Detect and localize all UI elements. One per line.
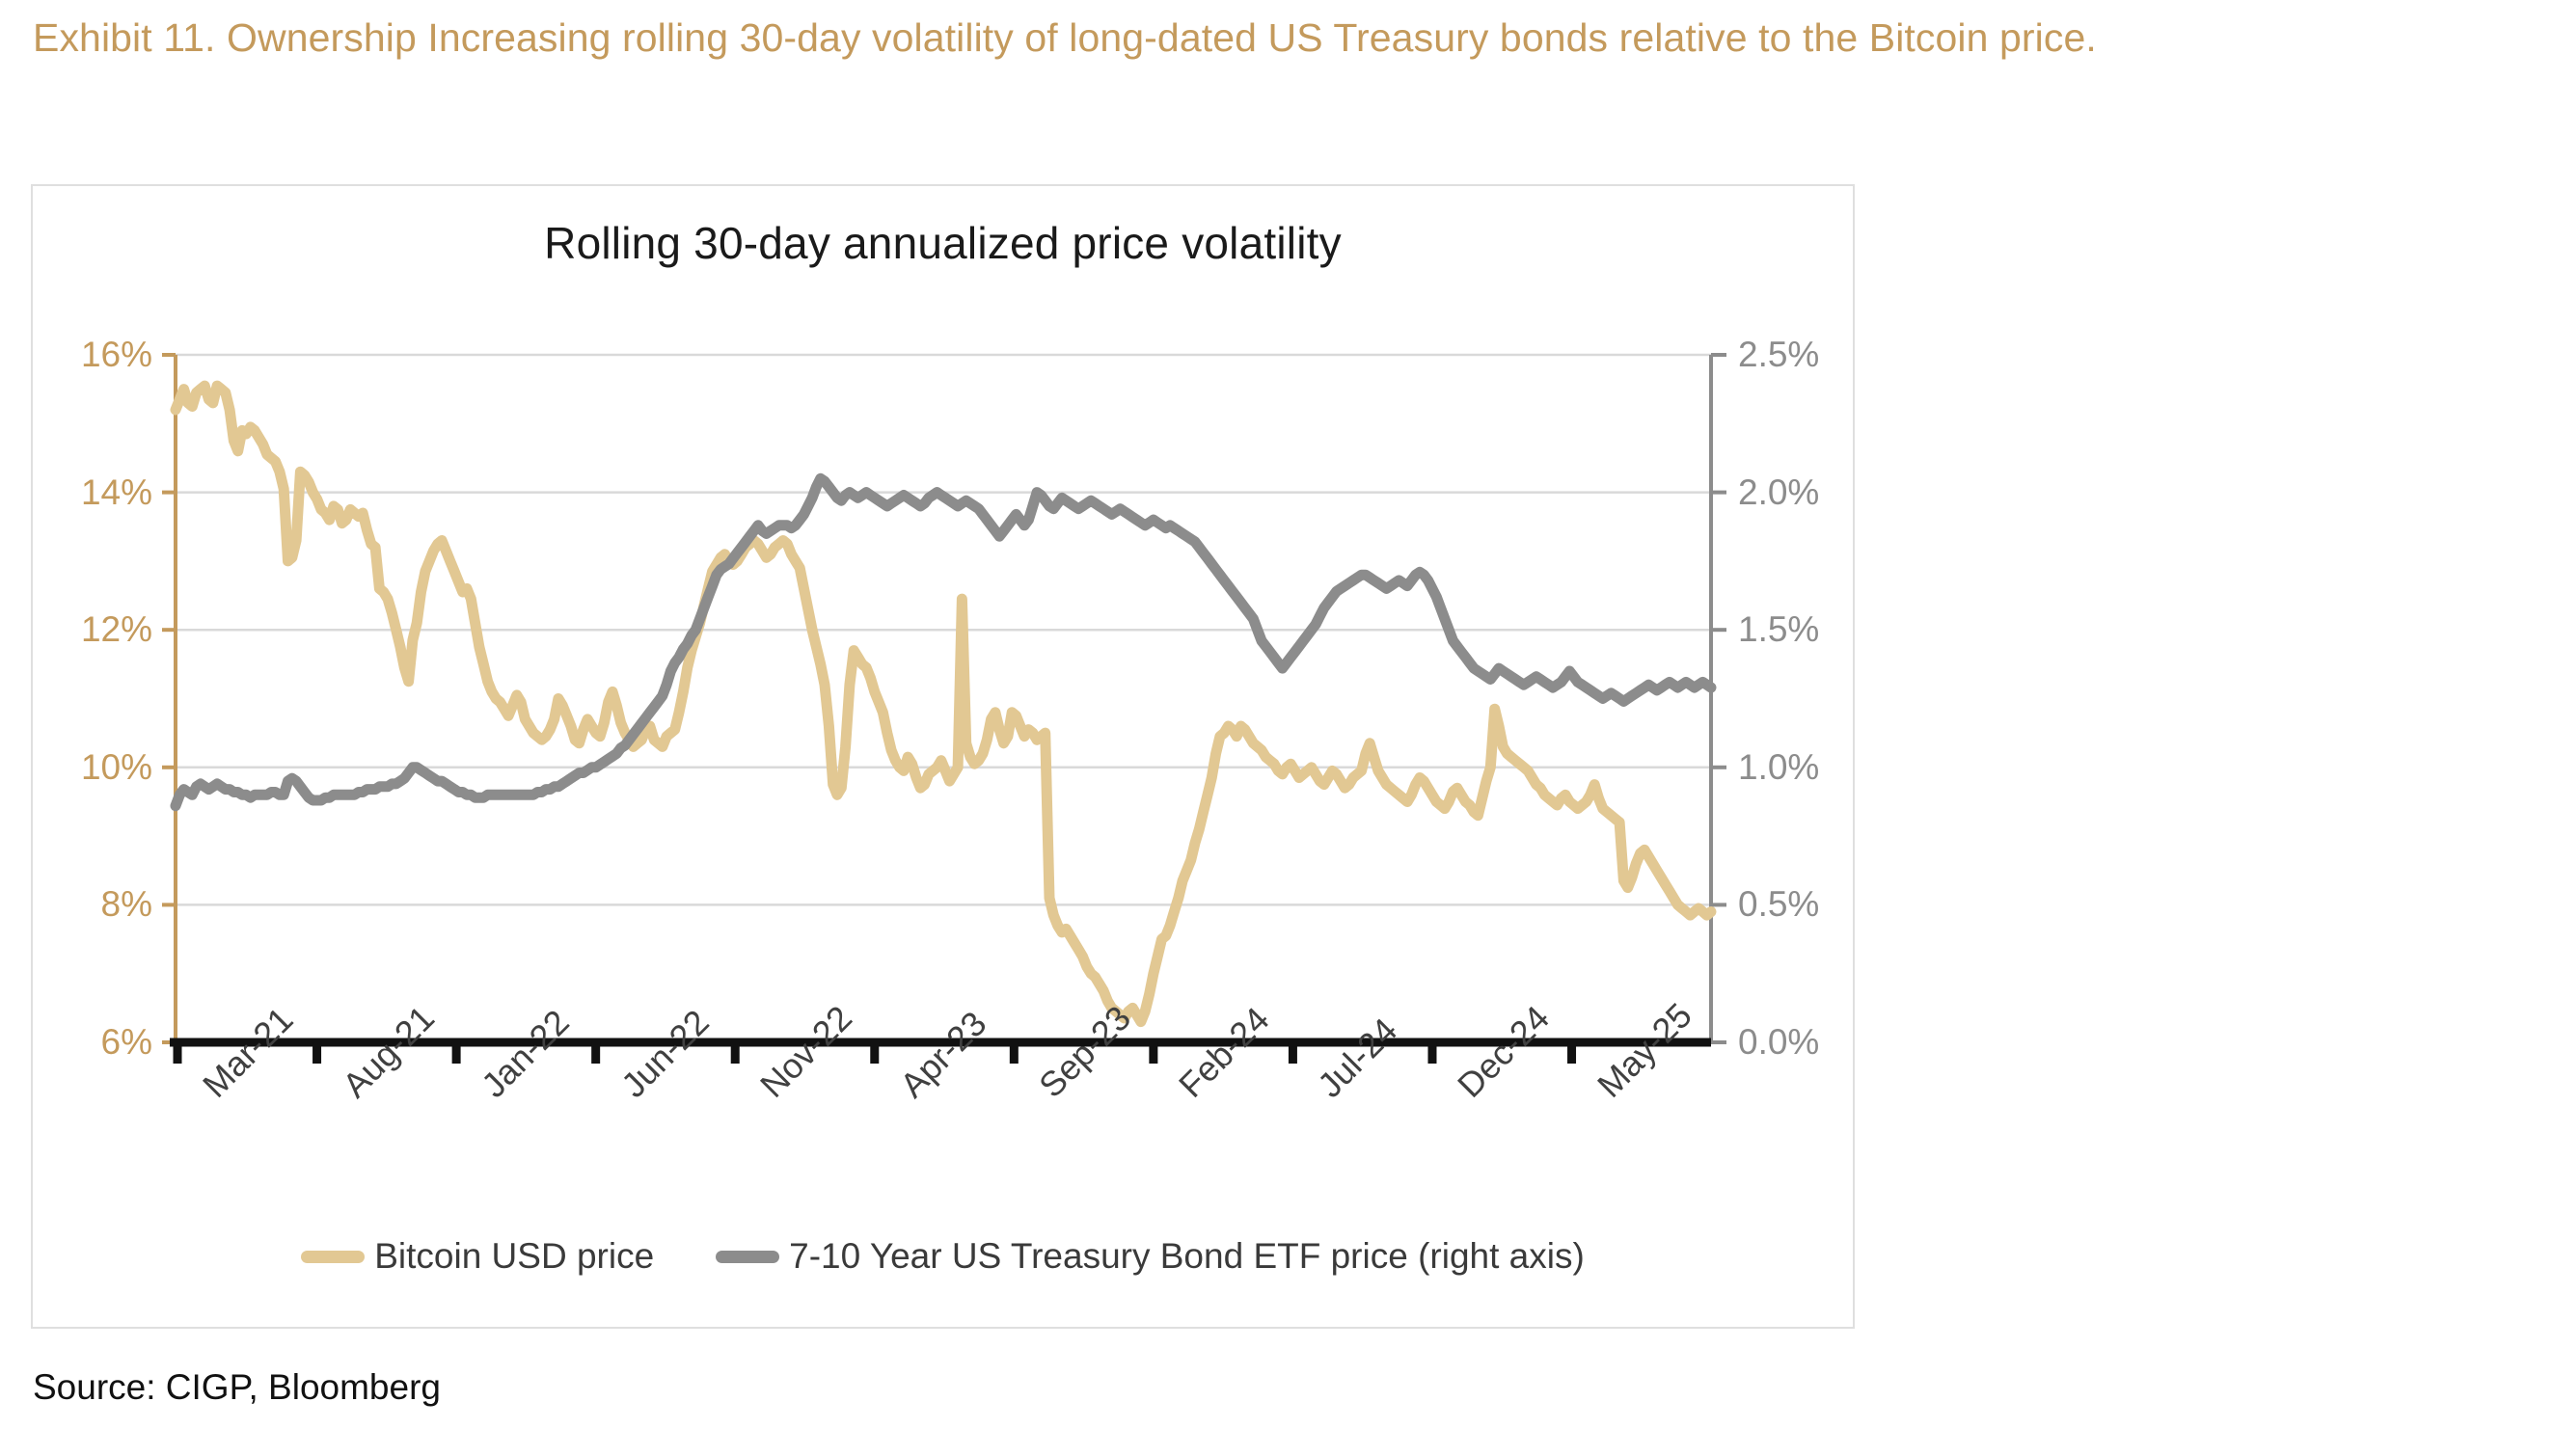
y-axis-left-tick: 14% — [81, 472, 152, 513]
y-axis-left-tick: 10% — [81, 747, 152, 788]
exhibit-title: Exhibit 11. Ownership Increasing rolling… — [33, 13, 2280, 64]
legend-item[interactable]: 7-10 Year US Treasury Bond ETF price (ri… — [716, 1236, 1585, 1277]
y-axis-right-tick: 2.5% — [1738, 335, 1819, 375]
y-axis-left-tick: 6% — [101, 1022, 152, 1063]
y-axis-right-tick: 1.5% — [1738, 609, 1819, 650]
plot-area: 6%8%10%12%14%16%0.0%0.5%1.0%1.5%2.0%2.5%… — [33, 186, 1853, 1327]
legend-label: 7-10 Year US Treasury Bond ETF price (ri… — [789, 1236, 1585, 1277]
y-axis-left-tick: 12% — [81, 609, 152, 650]
chart-canvas — [33, 186, 1853, 1327]
y-axis-left-tick: 8% — [101, 884, 152, 925]
legend-item[interactable]: Bitcoin USD price — [301, 1236, 654, 1277]
source-note: Source: CIGP, Bloomberg — [33, 1367, 441, 1408]
legend-line-swatch-icon — [301, 1251, 365, 1263]
y-axis-right-tick: 0.0% — [1738, 1022, 1819, 1063]
y-axis-left-tick: 16% — [81, 335, 152, 375]
legend-line-swatch-icon — [716, 1251, 779, 1263]
exhibit-page: Exhibit 11. Ownership Increasing rolling… — [0, 0, 2554, 1456]
chart-card: Rolling 30-day annualized price volatili… — [31, 184, 1855, 1329]
y-axis-right-tick: 2.0% — [1738, 472, 1819, 513]
y-axis-right-tick: 0.5% — [1738, 884, 1819, 925]
chart-legend: Bitcoin USD price7-10 Year US Treasury B… — [33, 1236, 1853, 1277]
y-axis-right-tick: 1.0% — [1738, 747, 1819, 788]
legend-label: Bitcoin USD price — [374, 1236, 654, 1277]
